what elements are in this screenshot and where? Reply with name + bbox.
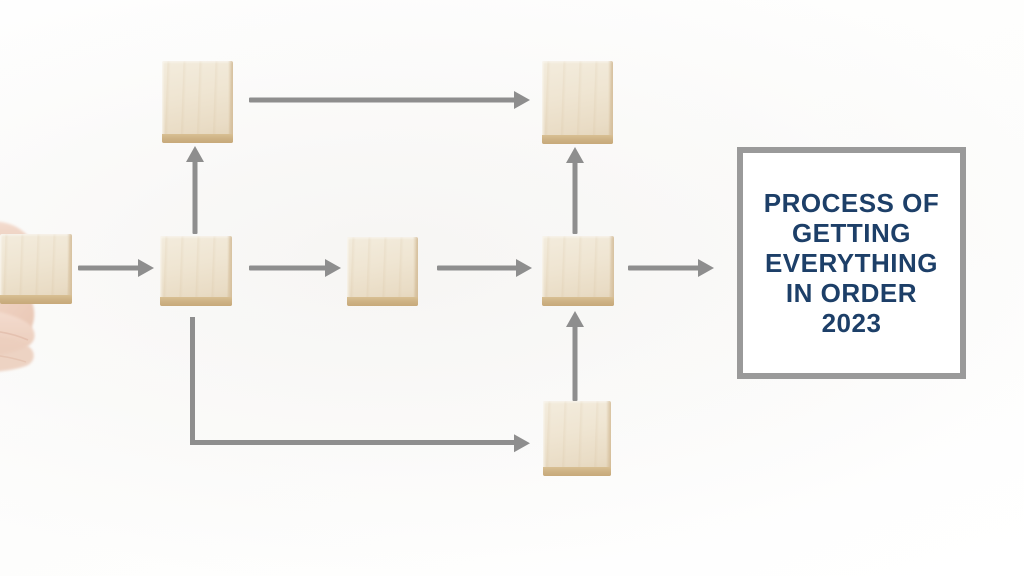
arrow-head — [516, 259, 532, 277]
title-card-text: PROCESS OF GETTING EVERYTHING IN ORDER 2… — [758, 188, 945, 339]
title-card-frame: PROCESS OF GETTING EVERYTHING IN ORDER 2… — [737, 147, 966, 379]
arrow-merge-to-top-right — [565, 147, 585, 234]
block-start[interactable] — [160, 236, 232, 306]
arrow-start-to-branch-up — [185, 146, 205, 234]
arrow-shaft — [78, 266, 140, 271]
arrow-shaft — [628, 266, 700, 271]
arrow-shaft — [573, 161, 578, 234]
arrow-shaft — [573, 325, 578, 401]
block-bevel — [609, 236, 614, 306]
arrow-head — [514, 91, 530, 109]
arrow-shaft — [249, 266, 327, 271]
block-bottom-edge — [347, 297, 418, 306]
block-face — [543, 401, 611, 476]
title-line-5: 2023 — [764, 308, 939, 338]
block-face — [0, 234, 72, 304]
arrow-shaft — [437, 266, 518, 271]
title-line-4: IN ORDER — [764, 278, 939, 308]
arrow-segment-horizontal — [190, 440, 516, 445]
arrow-head — [514, 434, 530, 452]
block-bottom-edge — [160, 297, 232, 306]
block-face — [162, 61, 233, 143]
arrow-start-to-middle — [249, 258, 341, 278]
arrow-head — [138, 259, 154, 277]
title-line-1: PROCESS OF — [764, 188, 939, 218]
block-bottom-edge — [543, 467, 611, 476]
scene-canvas: PROCESS OF GETTING EVERYTHING IN ORDER 2… — [0, 0, 1024, 576]
block-branch-top-left[interactable] — [162, 61, 233, 143]
block-bevel — [228, 61, 233, 143]
block-bottom-edge — [542, 297, 614, 306]
arrow-shaft — [249, 98, 516, 103]
arrow-middle-to-merge — [437, 258, 532, 278]
arrow-head — [698, 259, 714, 277]
arrow-merge-to-title — [628, 258, 714, 278]
block-held-in-hand[interactable] — [0, 234, 72, 304]
title-line-3: EVERYTHING — [764, 248, 939, 278]
block-top-right[interactable] — [542, 61, 613, 144]
block-merge[interactable] — [542, 236, 614, 306]
arrow-bottom-to-merge — [565, 311, 585, 401]
block-bevel — [608, 61, 613, 144]
block-bevel — [413, 237, 418, 306]
title-line-2: GETTING — [764, 218, 939, 248]
block-face — [160, 236, 232, 306]
block-face — [347, 237, 418, 306]
block-face — [542, 61, 613, 144]
block-bottom[interactable] — [543, 401, 611, 476]
block-bottom-edge — [162, 134, 233, 143]
block-bottom-edge — [0, 295, 72, 304]
block-bevel — [67, 234, 72, 304]
arrow-segment-vertical — [190, 317, 195, 445]
arrow-hand-block-to-start — [78, 258, 154, 278]
block-bevel — [227, 236, 232, 306]
block-middle[interactable] — [347, 237, 418, 306]
arrow-branch-up-to-top-right — [249, 90, 530, 110]
arrow-shaft — [193, 160, 198, 234]
block-face — [542, 236, 614, 306]
block-bottom-edge — [542, 135, 613, 144]
arrow-start-down-to-bottom — [190, 317, 530, 445]
block-bevel — [606, 401, 611, 476]
arrow-head — [325, 259, 341, 277]
